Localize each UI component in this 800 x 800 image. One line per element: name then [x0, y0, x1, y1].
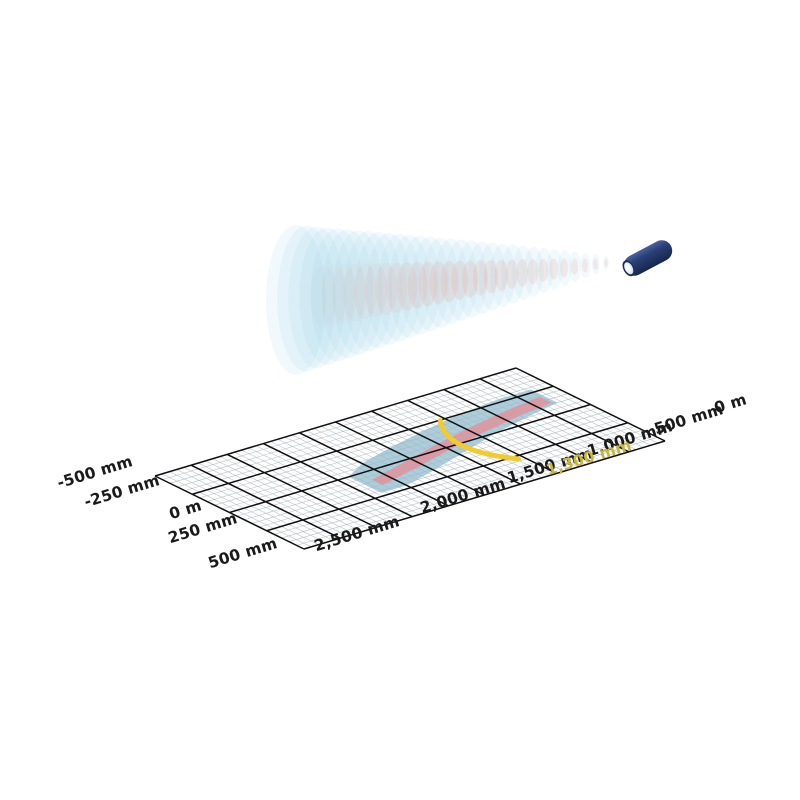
ultrasonic-transducer — [619, 237, 676, 281]
beam-coverage-figure — [0, 0, 800, 800]
acoustic-beam-cone — [266, 225, 609, 375]
figure-canvas: 0 m500 mm1,000 mm1,500 mm2,000 mm2,500 m… — [0, 0, 800, 800]
